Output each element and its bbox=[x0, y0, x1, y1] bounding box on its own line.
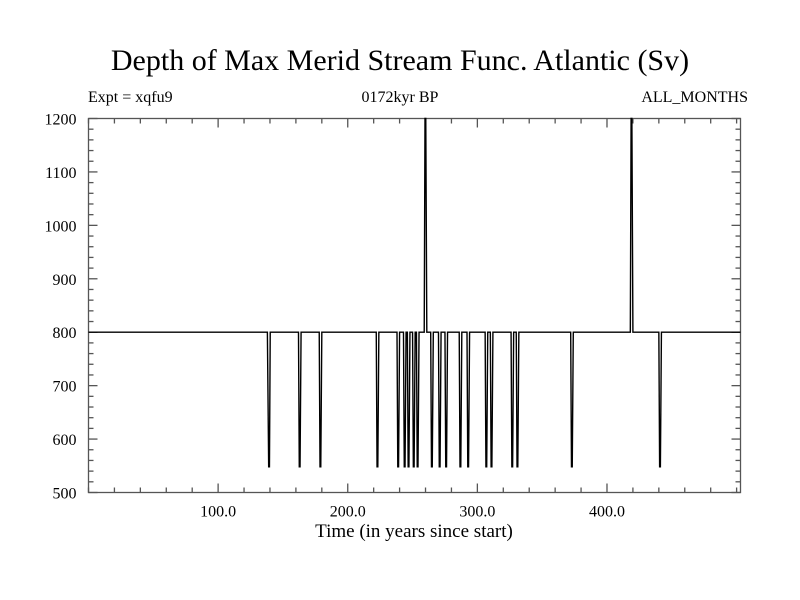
data-series bbox=[89, 119, 741, 467]
plot-page: Depth of Max Merid Stream Func. Atlantic… bbox=[0, 0, 800, 600]
x-tick-label: 400.0 bbox=[589, 504, 625, 521]
y-tick-label: 500 bbox=[53, 486, 77, 503]
y-tick-label: 1200 bbox=[45, 112, 77, 129]
y-tick-label: 1000 bbox=[45, 218, 77, 235]
x-tick-label: 200.0 bbox=[330, 504, 366, 521]
series-line bbox=[89, 119, 741, 467]
y-tick-label: 600 bbox=[53, 432, 77, 449]
y-tick-label: 900 bbox=[53, 272, 77, 289]
y-tick-label: 700 bbox=[53, 379, 77, 396]
x-tick-label: 300.0 bbox=[459, 504, 495, 521]
x-axis-title: Time (in years since start) bbox=[88, 521, 740, 543]
chart-canvas: 100.0200.0300.0400.050060070080090010001… bbox=[0, 0, 800, 600]
x-tick-label: 100.0 bbox=[200, 504, 236, 521]
axis-tick-labels: 100.0200.0300.0400.050060070080090010001… bbox=[45, 112, 625, 521]
y-tick-label: 800 bbox=[53, 325, 77, 342]
y-tick-label: 1100 bbox=[45, 165, 76, 182]
